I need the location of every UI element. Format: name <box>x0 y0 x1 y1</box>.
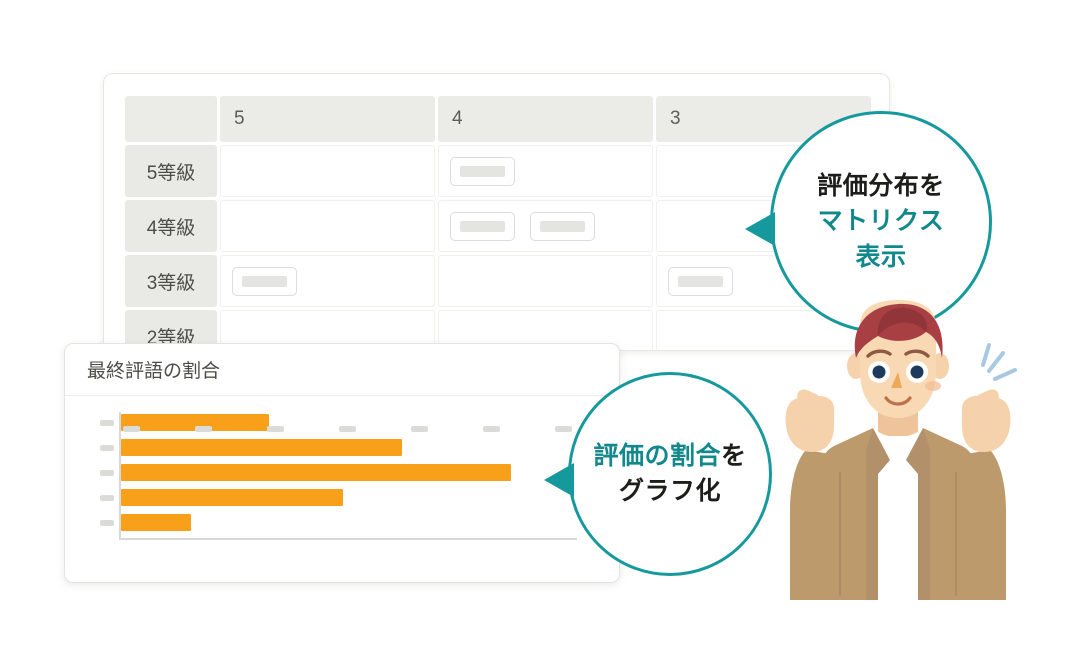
bubble-tail-icon <box>544 463 574 497</box>
final-rating-ratio-chart-card: 最終評語の割合 <box>64 343 620 583</box>
evaluation-pill[interactable] <box>530 212 595 241</box>
column-header-5: 5 <box>220 96 435 142</box>
matrix-cell-g3-c4[interactable] <box>438 255 653 307</box>
bubble-matrix-line-3: 表示 <box>855 240 906 276</box>
y-axis-tick-label-placeholder <box>100 420 114 426</box>
column-header-4: 4 <box>438 96 653 142</box>
matrix-cell-g5-c4[interactable] <box>438 145 653 197</box>
matrix-corner-cell <box>125 96 217 142</box>
x-axis-tick-label-placeholder <box>123 426 140 432</box>
evaluation-pill[interactable] <box>668 267 733 296</box>
y-axis-tick-label-placeholder <box>100 445 114 451</box>
chart-card-header: 最終評語の割合 <box>65 344 619 396</box>
matrix-cell-g4-c5[interactable] <box>220 200 435 252</box>
row-header-grade-3: 3等級 <box>125 255 217 307</box>
bubble-matrix-line-2: マトリクス <box>818 204 945 240</box>
matrix-cell-g3-c5[interactable] <box>220 255 435 307</box>
chart-title: 最終評語の割合 <box>87 356 220 383</box>
bar-chart <box>119 412 577 540</box>
evaluation-pill[interactable] <box>450 212 515 241</box>
x-axis-tick-label-placeholder <box>483 426 500 432</box>
x-axis-tick-label-placeholder <box>195 426 212 432</box>
chart-plot-area <box>65 396 619 581</box>
bubble-matrix-line-1: 評価分布を <box>817 169 945 205</box>
bubble-chart-line-2: グラフ化 <box>619 474 721 510</box>
bar-4[interactable] <box>121 489 343 506</box>
bar-5[interactable] <box>121 514 191 531</box>
callout-bubble-chart: 評価の割合を グラフ化 <box>568 372 772 576</box>
x-axis-tick-label-placeholder <box>411 426 428 432</box>
table-row: 3等級 <box>125 255 871 307</box>
row-header-grade-5: 5等級 <box>125 145 217 197</box>
bar-3[interactable] <box>121 464 511 481</box>
illustration-canvas: 5 4 3 5等級 4等級 <box>0 0 1078 654</box>
table-header-row: 5 4 3 <box>125 96 871 142</box>
x-axis-tick-label-placeholder <box>339 426 356 432</box>
bubble-chart-line-1-dark: を <box>721 442 747 470</box>
y-axis-tick-label-placeholder <box>100 470 114 476</box>
matrix-cell-g4-c4[interactable] <box>438 200 653 252</box>
bubble-chart-line-1-teal: 評価の割合 <box>593 442 721 470</box>
evaluation-pill[interactable] <box>450 157 515 186</box>
x-axis-tick-label-placeholder <box>267 426 284 432</box>
bubble-chart-line-1: 評価の割合を <box>593 439 746 475</box>
table-row: 5等級 <box>125 145 871 197</box>
bubble-tail-icon <box>745 212 775 246</box>
bar-2[interactable] <box>121 439 402 456</box>
y-axis-tick-label-placeholder <box>100 520 114 526</box>
row-header-grade-4: 4等級 <box>125 200 217 252</box>
celebrating-person-illustration <box>778 300 1018 600</box>
evaluation-pill[interactable] <box>232 267 297 296</box>
x-axis-tick-label-placeholder <box>555 426 572 432</box>
y-axis-tick-label-placeholder <box>100 495 114 501</box>
matrix-cell-g5-c5[interactable] <box>220 145 435 197</box>
